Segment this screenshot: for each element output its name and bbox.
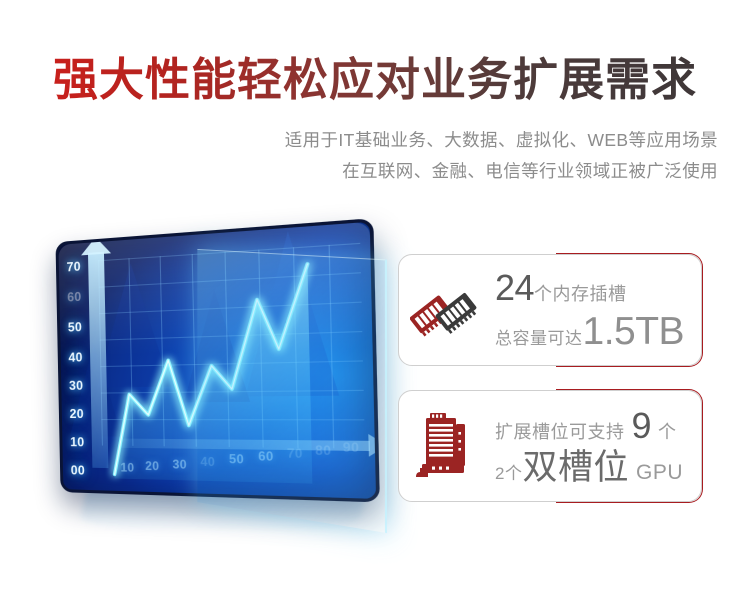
header: 强大性能轻松应对业务扩展需求 适用于IT基础业务、大数据、虚拟化、WEB等应用场…	[0, 0, 750, 187]
expansion-card-line-1: 扩展槽位可支持 9 个	[495, 408, 687, 444]
memory-capacity-value: 1.5TB	[583, 312, 685, 351]
chart-line-series	[58, 221, 379, 502]
gpu-suffix-label: GPU	[636, 462, 683, 483]
memory-capacity-label: 总容量可达	[495, 330, 583, 347]
memory-slot-count: 24	[495, 270, 534, 306]
expansion-slot-count: 9	[632, 408, 652, 444]
page-title: 强大性能轻松应对业务扩展需求	[53, 56, 697, 103]
feature-card-expansion[interactable]: 扩展槽位可支持 9 个 2个 双槽位 GPU	[398, 390, 702, 502]
memory-ram-icon	[399, 273, 495, 347]
chart-panel: 70 60 50 40 30 20 10 00 10 20 30 40 50 6…	[55, 218, 379, 502]
gpu-dual-slot-label: 双槽位	[522, 450, 629, 485]
subtitle-line-2: 在互联网、金融、电信等行业领域正被广泛使用	[0, 156, 718, 187]
memory-card-text: 24 个内存插槽 总容量可达 1.5TB	[495, 270, 701, 351]
memory-slot-label: 个内存插槽	[534, 285, 627, 303]
chart-stage: 70 60 50 40 30 20 10 00 10 20 30 40 50 6…	[55, 218, 379, 502]
expansion-card-line-2: 2个 双槽位 GPU	[495, 450, 687, 485]
memory-card-line-2: 总容量可达 1.5TB	[495, 312, 687, 351]
expansion-card-text: 扩展槽位可支持 9 个 2个 双槽位 GPU	[495, 408, 701, 485]
expansion-slot-unit: 个	[658, 423, 677, 441]
content-area: 70 60 50 40 30 20 10 00 10 20 30 40 50 6…	[0, 236, 750, 536]
gpu-count-prefix: 2个	[495, 465, 522, 482]
feature-cards-list: 24 个内存插槽 总容量可达 1.5TB	[398, 254, 710, 502]
expansion-card-gpu-icon	[399, 410, 495, 482]
feature-card-memory[interactable]: 24 个内存插槽 总容量可达 1.5TB	[398, 254, 702, 366]
subtitle: 适用于IT基础业务、大数据、虚拟化、WEB等应用场景 在互联网、金融、电信等行业…	[0, 125, 750, 186]
expansion-slot-label: 扩展槽位可支持	[495, 423, 625, 441]
memory-card-line-1: 24 个内存插槽	[495, 270, 687, 306]
growth-chart-graphic: 70 60 50 40 30 20 10 00 10 20 30 40 50 6…	[40, 236, 400, 536]
subtitle-line-1: 适用于IT基础业务、大数据、虚拟化、WEB等应用场景	[0, 125, 718, 156]
chart-area-fill	[110, 264, 312, 484]
